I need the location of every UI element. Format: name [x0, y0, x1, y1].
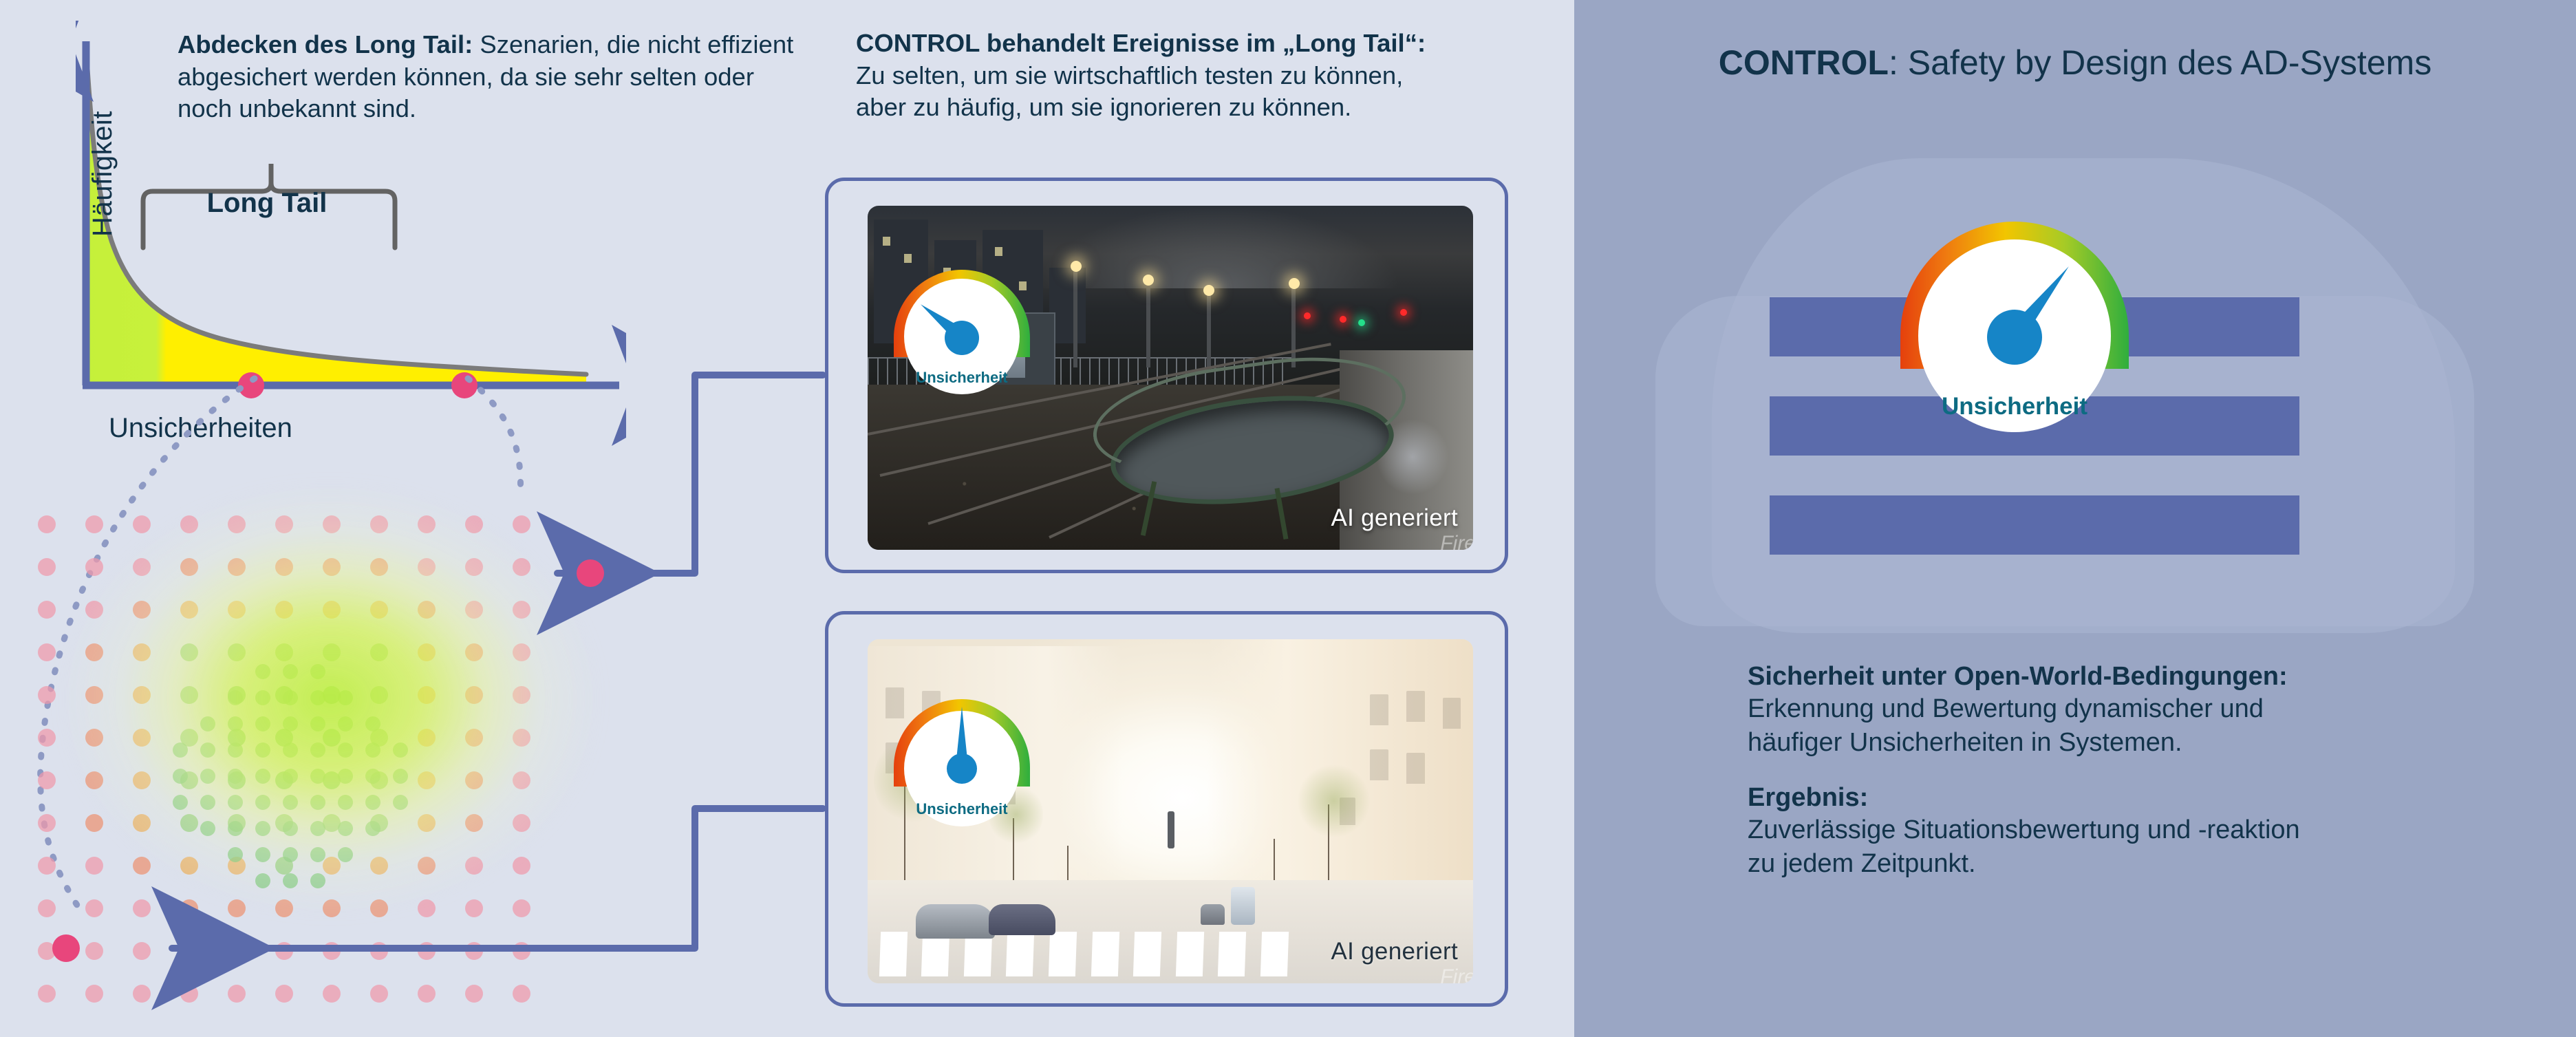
crosswalk-stripe: [1218, 932, 1246, 976]
parked-car-silver: [916, 904, 994, 939]
right-block-open-world-line1: Erkennung und Bewertung dynamischer und: [1748, 692, 2559, 726]
scenario-card-railway[interactable]: Unsicherheit AI generiert Firefly: [825, 178, 1508, 573]
scenario-dot: [513, 985, 530, 1003]
chart-bracket-label: Long Tail: [129, 188, 405, 219]
right-panel-title-bold: CONTROL: [1719, 43, 1889, 82]
left-panel: Abdecken des Long Tail: Szenarien, die n…: [0, 0, 1574, 1037]
crosswalk-stripe: [1176, 932, 1204, 976]
right-block-result-line2: zu jedem Zeitpunkt.: [1748, 847, 2559, 881]
scenario-dot: [85, 985, 103, 1003]
scenario-glow: [7, 461, 654, 956]
signal-light-red: [1400, 309, 1407, 316]
gauge-railway: Unsicherheit: [883, 235, 1041, 407]
sky-clouds: [1037, 206, 1400, 288]
lamp-head: [1203, 285, 1214, 296]
scenario-photo-railway: Unsicherheit AI generiert Firefly: [868, 206, 1473, 550]
signal-light-red: [1340, 316, 1346, 323]
right-block-open-world-line2: häufiger Unsicherheiten in Systemen.: [1748, 726, 2559, 760]
parked-car-dark: [989, 904, 1055, 935]
lamp-post: [1291, 281, 1296, 367]
right-panel: CONTROL: Safety by Design des AD-Systems: [1574, 0, 2576, 1037]
ai-generated-badge-street: AI generiert: [1331, 938, 1458, 965]
control-paragraph-line2: Zu selten, um sie wirtschaftlich testen …: [856, 61, 1403, 89]
firefly-watermark-railway: Firefly: [1440, 532, 1473, 550]
slide-root: Abdecken des Long Tail: Szenarien, die n…: [0, 0, 2576, 1037]
right-block-result: Ergebnis: Zuverlässige Situationsbewertu…: [1748, 782, 2559, 881]
traffic-light: [1168, 811, 1174, 848]
gauge-right-panel: Unsicherheit: [1884, 165, 2145, 454]
scenario-dot: [180, 985, 198, 1003]
facade-window: [1406, 691, 1424, 722]
facade-window: [1443, 698, 1461, 729]
scenario-dot: [418, 985, 436, 1003]
right-block-open-world: Sicherheit unter Open-World-Bedingungen:…: [1748, 661, 2559, 760]
scenario-dot: [38, 985, 56, 1003]
scenario-dot-field: [0, 475, 688, 1037]
scenario-dot: [465, 985, 483, 1003]
control-paragraph: CONTROL behandelt Ereignisse im „Long Ta…: [856, 28, 1571, 124]
gauge-street-label: Unsicherheit: [916, 800, 1008, 817]
right-block-result-line1: Zuverlässige Situationsbewertung und -re…: [1748, 813, 2559, 847]
facade-window: [1370, 694, 1388, 725]
city-bus: [1231, 887, 1255, 925]
right-panel-body: Sicherheit unter Open-World-Bedingungen:…: [1748, 661, 2559, 902]
scenario-dot: [133, 985, 151, 1003]
firefly-watermark-street: Firefly: [1440, 965, 1473, 983]
right-block-result-heading: Ergebnis:: [1748, 782, 2559, 813]
control-paragraph-bold: CONTROL behandelt Ereignisse im „Long Ta…: [856, 29, 1426, 57]
crosswalk-stripe: [879, 932, 907, 976]
scenario-dot: [370, 985, 388, 1003]
lamp-post: [1146, 278, 1150, 367]
driving-car: [1201, 904, 1225, 925]
scenario-card-street[interactable]: Unsicherheit AI generiert Firefly: [825, 611, 1508, 1007]
ai-generated-badge-railway: AI generiert: [1331, 504, 1458, 532]
crosswalk-stripe: [1049, 932, 1077, 976]
signal-light-red: [1304, 312, 1311, 319]
gauge-right-panel-label: Unsicherheit: [1942, 393, 2087, 420]
facade-window: [1370, 749, 1388, 780]
control-paragraph-line3: aber zu häufig, um sie ignorieren zu kön…: [856, 93, 1351, 121]
street-tree-canopy: [1298, 763, 1371, 839]
scenario-photo-street: Unsicherheit AI generiert Firefly: [868, 639, 1473, 983]
lamp-post: [1207, 288, 1211, 367]
lamp-head: [1071, 261, 1082, 272]
lamp-post: [1073, 264, 1077, 367]
facade-window: [1406, 753, 1424, 784]
crosswalk-stripe: [1260, 932, 1289, 976]
scenario-dot: [275, 985, 293, 1003]
scenario-dot: [228, 985, 246, 1003]
right-panel-title-rest: : Safety by Design des AD-Systems: [1889, 43, 2432, 82]
signal-light-green: [1358, 319, 1365, 326]
gauge-railway-label: Unsicherheit: [916, 369, 1008, 386]
gauge-street: Unsicherheit: [883, 664, 1041, 836]
system-layer-bar-3: [1770, 495, 2299, 555]
scenario-dot: [323, 985, 341, 1003]
chart-y-axis-label: Häufigkeit: [87, 111, 118, 237]
right-block-open-world-heading: Sicherheit unter Open-World-Bedingungen:: [1748, 661, 2559, 692]
lamp-head: [1289, 278, 1300, 289]
crosswalk-stripe: [1133, 932, 1161, 976]
right-panel-title: CONTROL: Safety by Design des AD-Systems: [1574, 43, 2576, 83]
crosswalk-stripe: [1091, 932, 1119, 976]
crosswalk-stripe: [1006, 932, 1034, 976]
